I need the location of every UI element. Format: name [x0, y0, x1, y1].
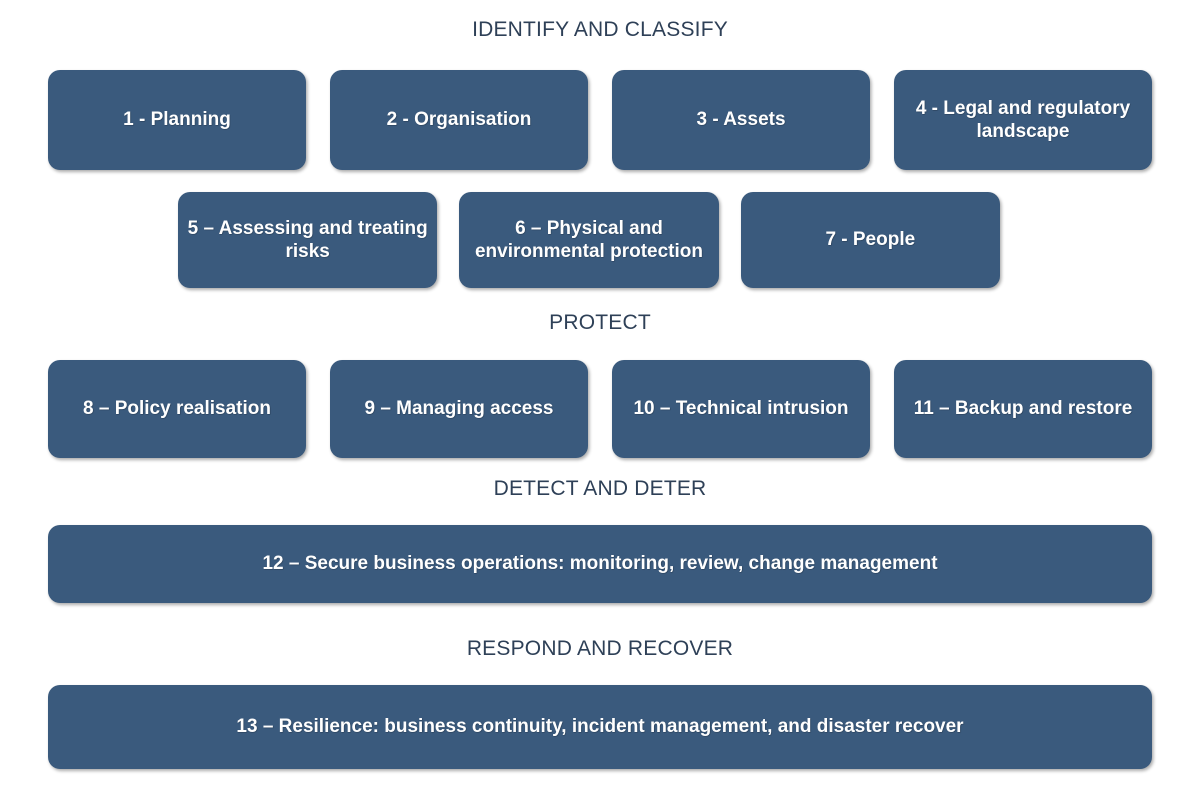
node-6-physical-and-environmental-protection[interactable]: 6 – Physical and environmental protectio… [459, 192, 718, 288]
node-row-3: 8 – Policy realisation 9 – Managing acce… [48, 360, 1152, 458]
node-row-4: 12 – Secure business operations: monitor… [48, 525, 1152, 603]
node-row-1: 1 - Planning 2 - Organisation 3 - Assets… [48, 70, 1152, 170]
node-13-resilience[interactable]: 13 – Resilience: business continuity, in… [48, 685, 1152, 769]
node-2-organisation[interactable]: 2 - Organisation [330, 70, 588, 170]
node-12-secure-business-operations[interactable]: 12 – Secure business operations: monitor… [48, 525, 1152, 603]
node-10-technical-intrusion[interactable]: 10 – Technical intrusion [612, 360, 870, 458]
node-1-planning[interactable]: 1 - Planning [48, 70, 306, 170]
node-4-legal-and-regulatory-landscape[interactable]: 4 - Legal and regulatory landscape [894, 70, 1152, 170]
node-row-5: 13 – Resilience: business continuity, in… [48, 685, 1152, 769]
node-5-assessing-and-treating-risks[interactable]: 5 – Assessing and treating risks [178, 192, 437, 288]
node-8-policy-realisation[interactable]: 8 – Policy realisation [48, 360, 306, 458]
node-9-managing-access[interactable]: 9 – Managing access [330, 360, 588, 458]
framework-diagram: IDENTIFY AND CLASSIFY 1 - Planning 2 - O… [0, 0, 1200, 800]
node-11-backup-and-restore[interactable]: 11 – Backup and restore [894, 360, 1152, 458]
section-header-detect-and-deter: DETECT AND DETER [0, 477, 1200, 501]
node-3-assets[interactable]: 3 - Assets [612, 70, 870, 170]
section-header-respond-and-recover: RESPOND AND RECOVER [0, 637, 1200, 661]
section-header-identify-and-classify: IDENTIFY AND CLASSIFY [0, 18, 1200, 42]
node-7-people[interactable]: 7 - People [741, 192, 1000, 288]
section-header-protect: PROTECT [0, 311, 1200, 335]
node-row-2: 5 – Assessing and treating risks 6 – Phy… [178, 192, 1000, 288]
